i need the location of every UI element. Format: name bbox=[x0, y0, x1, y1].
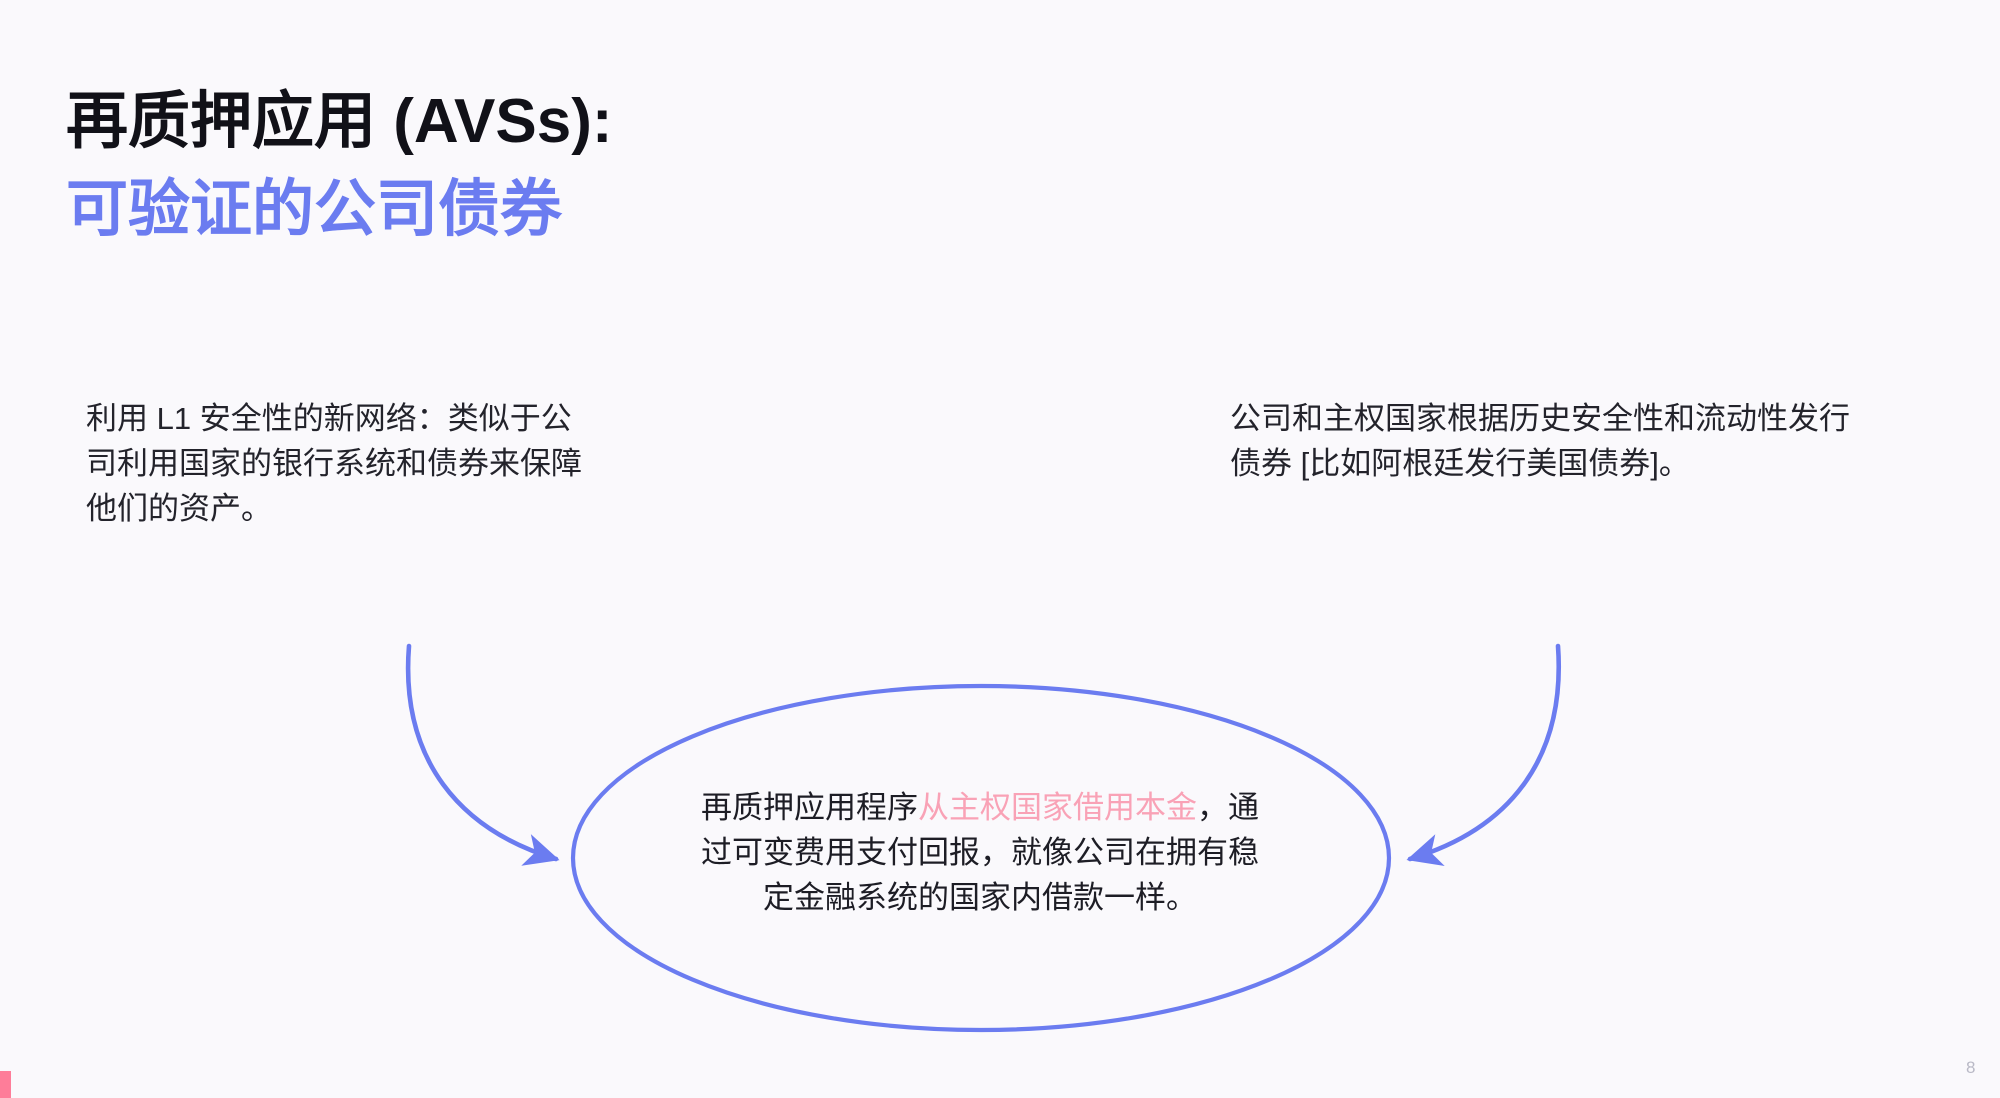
body-text-left: 利用 L1 安全性的新网络：类似于公司利用国家的银行系统和债券来保障他们的资产。 bbox=[86, 396, 596, 531]
corner-accent-bar bbox=[0, 1071, 11, 1098]
page-title: 再质押应用 (AVSs): 可验证的公司债券 bbox=[66, 78, 1266, 254]
left-connector-arrow bbox=[408, 646, 556, 859]
callout-text-before: 再质押应用程序 bbox=[701, 790, 918, 825]
callout-text: 再质押应用程序从主权国家借用本金，通过可变费用支付回报，就像公司在拥有稳定金融系… bbox=[692, 785, 1268, 920]
page-number: 8 bbox=[1966, 1058, 1976, 1078]
callout-text-highlight: 从主权国家借用本金 bbox=[918, 790, 1197, 825]
body-text-right: 公司和主权国家根据历史安全性和流动性发行债券 [比如阿根廷发行美国债券]。 bbox=[1230, 396, 1860, 486]
title-line-secondary: 可验证的公司债券 bbox=[66, 166, 1266, 254]
slide-canvas: 再质押应用 (AVSs): 可验证的公司债券 利用 L1 安全性的新网络：类似于… bbox=[0, 0, 2000, 1098]
title-line-primary: 再质押应用 (AVSs): bbox=[66, 78, 1266, 166]
right-connector-arrow bbox=[1410, 646, 1559, 859]
